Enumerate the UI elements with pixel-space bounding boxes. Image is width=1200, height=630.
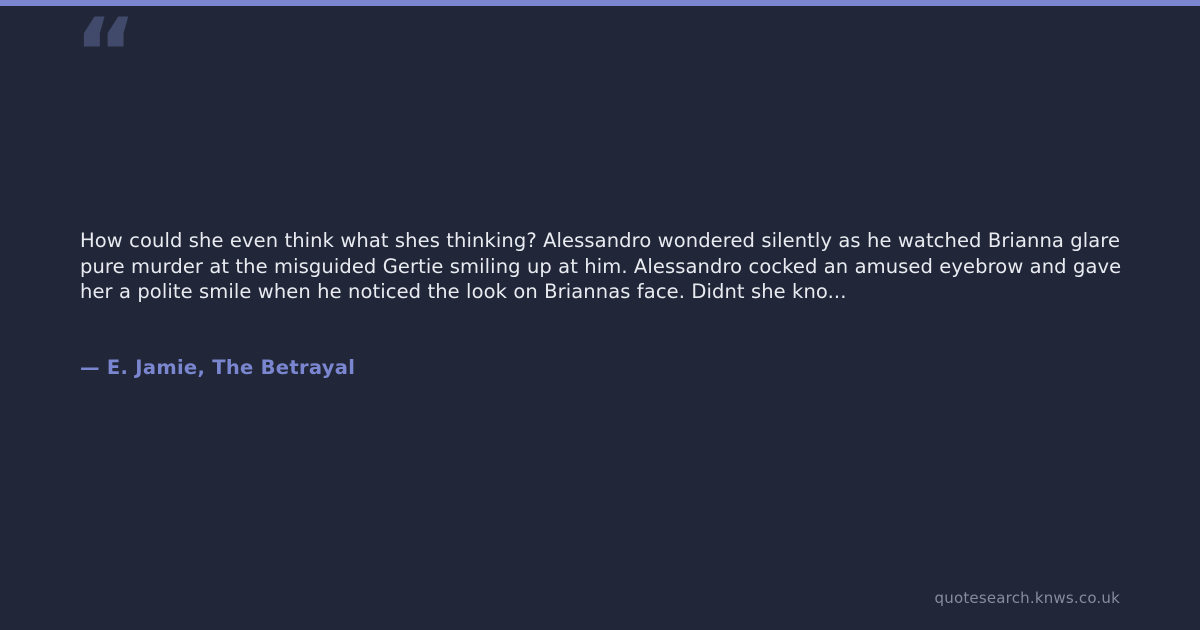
open-quote-icon: “ [74, 6, 135, 102]
quote-card: “ How could she even think what shes thi… [0, 0, 1200, 630]
quote-attribution: — E. Jamie, The Betrayal [80, 355, 355, 381]
source-url: quotesearch.knws.co.uk [935, 588, 1120, 608]
quote-text: How could she even think what shes think… [80, 228, 1125, 305]
top-accent-bar [0, 0, 1200, 6]
